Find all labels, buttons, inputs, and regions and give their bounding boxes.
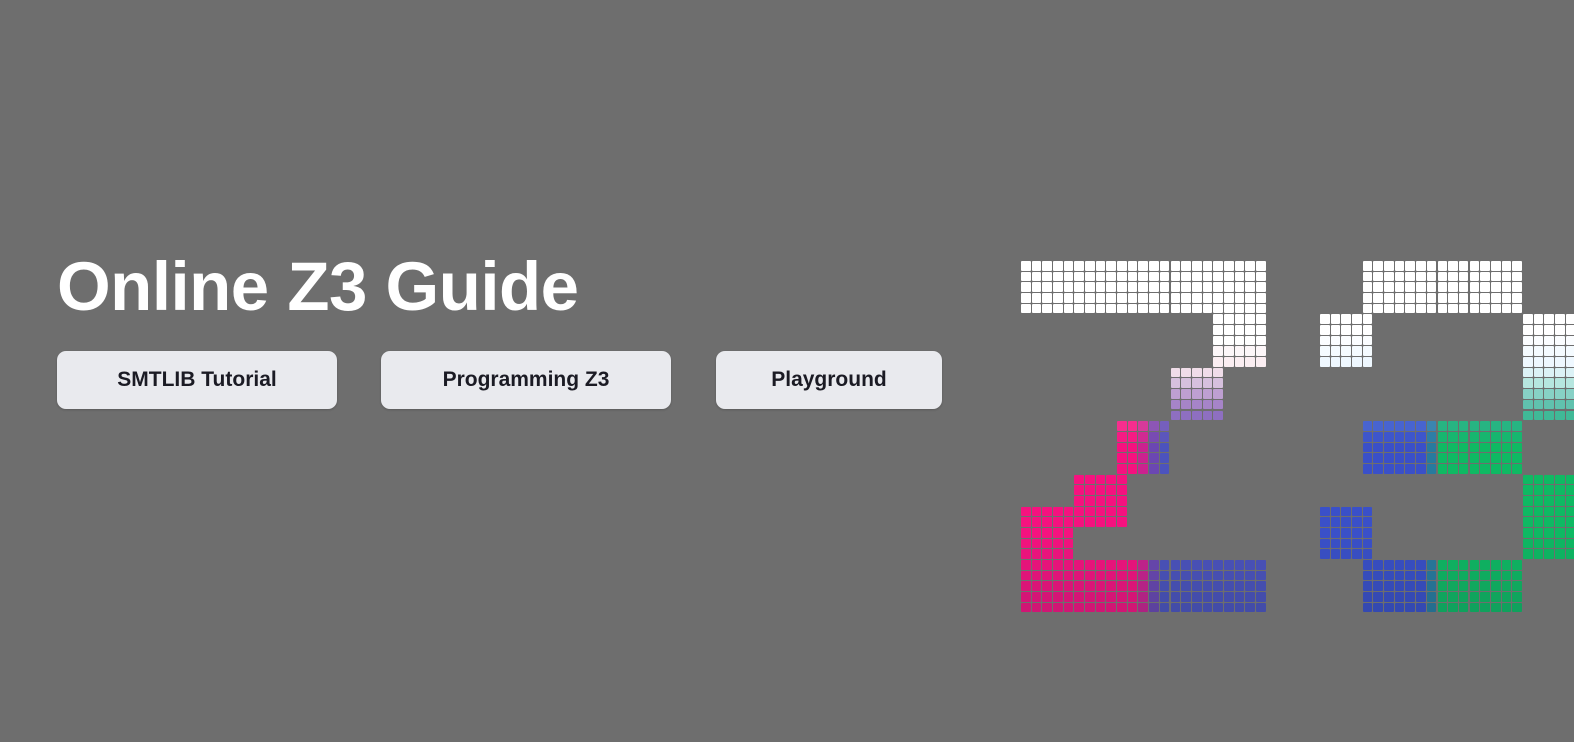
programming-z3-button[interactable]: Programming Z3 (381, 351, 671, 409)
logo-pixel (1256, 571, 1266, 581)
logo-pixel (1438, 581, 1448, 591)
logo-pixel (1534, 378, 1544, 388)
logo-pixel (1438, 421, 1448, 431)
logo-pixel (1203, 592, 1213, 602)
logo-pixel (1032, 581, 1042, 591)
logo-pixel (1416, 304, 1426, 314)
logo-pixel (1171, 389, 1181, 399)
logo-pixel (1555, 549, 1565, 559)
logo-pixel (1523, 517, 1533, 527)
logo-pixel (1203, 400, 1213, 410)
logo-pixel (1331, 346, 1341, 356)
logo-pixel (1032, 603, 1042, 613)
logo-pixel (1149, 571, 1159, 581)
logo-pixel (1331, 507, 1341, 517)
logo-pixel (1160, 432, 1170, 442)
logo-pixel (1053, 592, 1063, 602)
logo-pixel (1181, 261, 1191, 271)
logo-pixel (1373, 421, 1383, 431)
logo-pixel (1405, 304, 1415, 314)
logo-pixel (1053, 581, 1063, 591)
logo-pixel (1448, 304, 1458, 314)
logo-pixel (1213, 389, 1223, 399)
logo-pixel (1405, 293, 1415, 303)
logo-pixel (1523, 485, 1533, 495)
logo-pixel (1074, 496, 1084, 506)
logo-pixel (1320, 325, 1330, 335)
logo-pixel (1021, 261, 1031, 271)
logo-pixel (1491, 261, 1501, 271)
logo-pixel (1427, 603, 1437, 613)
logo-pixel (1502, 592, 1512, 602)
logo-pixel (1224, 336, 1234, 346)
logo-pixel (1171, 282, 1181, 292)
logo-pixel (1074, 592, 1084, 602)
playground-button[interactable]: Playground (716, 351, 942, 409)
logo-pixel (1512, 282, 1522, 292)
logo-pixel (1534, 325, 1544, 335)
logo-pixel (1427, 581, 1437, 591)
logo-pixel (1064, 603, 1074, 613)
logo-pixel (1384, 560, 1394, 570)
logo-pixel (1470, 464, 1480, 474)
logo-pixel (1245, 581, 1255, 591)
logo-pixel (1491, 293, 1501, 303)
logo-pixel (1128, 261, 1138, 271)
logo-pixel (1245, 293, 1255, 303)
logo-pixel (1566, 389, 1574, 399)
logo-pixel (1502, 421, 1512, 431)
logo-pixel (1032, 304, 1042, 314)
logo-pixel (1245, 325, 1255, 335)
logo-pixel (1555, 346, 1565, 356)
logo-pixel (1106, 496, 1116, 506)
logo-pixel (1096, 261, 1106, 271)
logo-pixel (1523, 400, 1533, 410)
logo-pixel (1523, 325, 1533, 335)
logo-pixel (1042, 507, 1052, 517)
logo-pixel (1245, 314, 1255, 324)
logo-pixel (1085, 261, 1095, 271)
logo-pixel (1138, 581, 1148, 591)
logo-pixel (1502, 603, 1512, 613)
logo-pixel (1224, 325, 1234, 335)
logo-pixel (1320, 517, 1330, 527)
logo-pixel (1138, 282, 1148, 292)
logo-pixel (1117, 475, 1127, 485)
logo-pixel (1555, 400, 1565, 410)
logo-pixel (1149, 421, 1159, 431)
logo-pixel (1149, 261, 1159, 271)
logo-pixel (1363, 346, 1373, 356)
logo-pixel (1363, 336, 1373, 346)
logo-pixel (1523, 336, 1533, 346)
logo-pixel (1032, 539, 1042, 549)
logo-pixel (1138, 443, 1148, 453)
logo-pixel (1096, 282, 1106, 292)
logo-pixel (1053, 507, 1063, 517)
logo-pixel (1085, 560, 1095, 570)
logo-pixel (1032, 571, 1042, 581)
logo-pixel (1117, 560, 1127, 570)
logo-pixel (1373, 592, 1383, 602)
logo-pixel (1021, 507, 1031, 517)
logo-pixel (1373, 571, 1383, 581)
logo-pixel (1363, 592, 1373, 602)
logo-pixel (1085, 282, 1095, 292)
logo-pixel (1042, 282, 1052, 292)
logo-pixel (1470, 432, 1480, 442)
logo-pixel (1085, 517, 1095, 527)
logo-pixel (1491, 272, 1501, 282)
logo-pixel (1502, 272, 1512, 282)
logo-pixel (1074, 581, 1084, 591)
logo-pixel (1438, 261, 1448, 271)
logo-pixel (1128, 282, 1138, 292)
logo-pixel (1256, 560, 1266, 570)
logo-pixel (1149, 293, 1159, 303)
logo-pixel (1523, 549, 1533, 559)
logo-pixel (1405, 560, 1415, 570)
logo-pixel (1042, 261, 1052, 271)
logo-pixel (1256, 293, 1266, 303)
logo-pixel (1491, 282, 1501, 292)
logo-pixel (1160, 464, 1170, 474)
logo-pixel (1042, 528, 1052, 538)
logo-pixel (1213, 304, 1223, 314)
logo-pixel (1523, 539, 1533, 549)
logo-pixel (1181, 603, 1191, 613)
logo-pixel (1438, 443, 1448, 453)
logo-pixel (1160, 304, 1170, 314)
logo-pixel (1512, 464, 1522, 474)
logo-pixel (1160, 272, 1170, 282)
logo-pixel (1491, 304, 1501, 314)
logo-pixel (1245, 304, 1255, 314)
logo-pixel (1181, 282, 1191, 292)
logo-pixel (1138, 603, 1148, 613)
logo-pixel (1042, 603, 1052, 613)
logo-pixel (1331, 539, 1341, 549)
logo-pixel (1149, 282, 1159, 292)
logo-pixel (1416, 421, 1426, 431)
logo-pixel (1224, 592, 1234, 602)
logo-pixel (1566, 378, 1574, 388)
logo-pixel (1512, 560, 1522, 570)
logo-pixel (1438, 282, 1448, 292)
logo-pixel (1117, 443, 1127, 453)
logo-pixel (1213, 368, 1223, 378)
logo-pixel (1149, 453, 1159, 463)
logo-pixel (1427, 272, 1437, 282)
logo-pixel (1096, 592, 1106, 602)
logo-pixel (1042, 549, 1052, 559)
logo-pixel (1416, 592, 1426, 602)
logo-pixel (1032, 293, 1042, 303)
logo-pixel (1384, 272, 1394, 282)
logo-pixel (1427, 453, 1437, 463)
logo-pixel (1128, 464, 1138, 474)
logo-pixel (1096, 485, 1106, 495)
logo-pixel (1491, 443, 1501, 453)
logo-pixel (1491, 592, 1501, 602)
logo-pixel (1160, 453, 1170, 463)
logo-pixel (1245, 346, 1255, 356)
logo-pixel (1341, 325, 1351, 335)
logo-pixel (1149, 464, 1159, 474)
logo-pixel (1363, 261, 1373, 271)
logo-pixel (1160, 592, 1170, 602)
logo-pixel (1427, 592, 1437, 602)
logo-pixel (1384, 453, 1394, 463)
logo-pixel (1555, 496, 1565, 506)
logo-pixel (1171, 272, 1181, 282)
logo-pixel (1213, 400, 1223, 410)
logo-pixel (1021, 282, 1031, 292)
logo-pixel (1384, 421, 1394, 431)
hero-section: Online Z3 Guide SMTLIB Tutorial Programm… (0, 0, 1574, 742)
logo-pixel (1352, 517, 1362, 527)
logo-pixel (1405, 464, 1415, 474)
logo-pixel (1106, 603, 1116, 613)
logo-pixel (1128, 560, 1138, 570)
logo-pixel (1352, 357, 1362, 367)
logo-pixel (1192, 592, 1202, 602)
logo-pixel (1566, 549, 1574, 559)
hero-button-row: SMTLIB Tutorial Programming Z3 Playgroun… (57, 351, 957, 409)
logo-pixel (1352, 314, 1362, 324)
logo-pixel (1096, 293, 1106, 303)
logo-pixel (1149, 272, 1159, 282)
logo-pixel (1074, 282, 1084, 292)
logo-pixel (1384, 261, 1394, 271)
logo-pixel (1192, 389, 1202, 399)
logo-pixel (1470, 560, 1480, 570)
logo-pixel (1373, 603, 1383, 613)
logo-pixel (1470, 581, 1480, 591)
logo-pixel (1555, 517, 1565, 527)
logo-pixel (1534, 357, 1544, 367)
logo-pixel (1074, 261, 1084, 271)
logo-pixel (1523, 314, 1533, 324)
logo-pixel (1096, 272, 1106, 282)
logo-pixel (1064, 539, 1074, 549)
logo-pixel (1171, 581, 1181, 591)
logo-pixel (1512, 432, 1522, 442)
logo-pixel (1405, 432, 1415, 442)
smtlib-tutorial-button[interactable]: SMTLIB Tutorial (57, 351, 337, 409)
logo-pixel (1235, 336, 1245, 346)
logo-pixel (1363, 603, 1373, 613)
logo-pixel (1470, 603, 1480, 613)
logo-pixel (1373, 293, 1383, 303)
logo-pixel (1245, 592, 1255, 602)
logo-pixel (1213, 603, 1223, 613)
logo-pixel (1470, 453, 1480, 463)
logo-pixel (1245, 560, 1255, 570)
logo-pixel (1160, 571, 1170, 581)
logo-pixel (1363, 571, 1373, 581)
logo-pixel (1149, 581, 1159, 591)
logo-pixel (1352, 528, 1362, 538)
logo-pixel (1502, 443, 1512, 453)
logo-pixel (1117, 453, 1127, 463)
logo-pixel (1021, 571, 1031, 581)
logo-pixel (1544, 368, 1554, 378)
logo-pixel (1235, 282, 1245, 292)
logo-pixel (1117, 571, 1127, 581)
logo-pixel (1064, 528, 1074, 538)
logo-pixel (1149, 592, 1159, 602)
logo-pixel (1149, 304, 1159, 314)
logo-pixel (1448, 571, 1458, 581)
logo-pixel (1032, 261, 1042, 271)
logo-pixel (1235, 581, 1245, 591)
logo-pixel (1384, 293, 1394, 303)
logo-pixel (1085, 603, 1095, 613)
logo-pixel (1032, 282, 1042, 292)
logo-pixel (1192, 304, 1202, 314)
logo-pixel (1203, 293, 1213, 303)
logo-pixel (1053, 282, 1063, 292)
logo-pixel (1106, 272, 1116, 282)
logo-pixel (1363, 314, 1373, 324)
logo-pixel (1053, 549, 1063, 559)
logo-pixel (1480, 581, 1490, 591)
logo-pixel (1438, 272, 1448, 282)
logo-pixel (1523, 389, 1533, 399)
logo-pixel (1502, 261, 1512, 271)
logo-pixel (1213, 346, 1223, 356)
logo-pixel (1555, 528, 1565, 538)
logo-pixel (1235, 314, 1245, 324)
logo-pixel (1064, 304, 1074, 314)
logo-pixel (1213, 571, 1223, 581)
logo-pixel (1064, 517, 1074, 527)
logo-pixel (1427, 261, 1437, 271)
logo-pixel (1416, 464, 1426, 474)
logo-pixel (1544, 539, 1554, 549)
logo-pixel (1395, 432, 1405, 442)
logo-pixel (1256, 336, 1266, 346)
logo-pixel (1555, 389, 1565, 399)
logo-pixel (1085, 485, 1095, 495)
logo-pixel (1117, 581, 1127, 591)
logo-pixel (1213, 357, 1223, 367)
logo-pixel (1117, 261, 1127, 271)
logo-pixel (1566, 539, 1574, 549)
logo-pixel (1181, 389, 1191, 399)
logo-pixel (1032, 517, 1042, 527)
logo-pixel (1534, 528, 1544, 538)
logo-pixel (1416, 571, 1426, 581)
logo-pixel (1245, 603, 1255, 613)
logo-pixel (1021, 560, 1031, 570)
logo-pixel (1384, 464, 1394, 474)
logo-pixel (1363, 293, 1373, 303)
logo-pixel (1074, 507, 1084, 517)
logo-pixel (1534, 517, 1544, 527)
logo-pixel (1534, 389, 1544, 399)
logo-pixel (1171, 560, 1181, 570)
logo-pixel (1405, 272, 1415, 282)
logo-pixel (1106, 282, 1116, 292)
logo-pixel (1405, 571, 1415, 581)
logo-pixel (1160, 603, 1170, 613)
logo-pixel (1416, 261, 1426, 271)
logo-pixel (1363, 539, 1373, 549)
logo-pixel (1320, 549, 1330, 559)
logo-pixel (1053, 603, 1063, 613)
logo-pixel (1566, 496, 1574, 506)
logo-pixel (1448, 592, 1458, 602)
logo-pixel (1213, 325, 1223, 335)
logo-pixel (1106, 261, 1116, 271)
logo-pixel (1341, 549, 1351, 559)
logo-pixel (1117, 603, 1127, 613)
logo-pixel (1053, 293, 1063, 303)
logo-pixel (1096, 581, 1106, 591)
logo-pixel (1470, 282, 1480, 292)
logo-pixel (1384, 581, 1394, 591)
logo-pixel (1106, 560, 1116, 570)
logo-pixel (1363, 517, 1373, 527)
logo-pixel (1053, 304, 1063, 314)
logo-pixel (1160, 282, 1170, 292)
logo-pixel (1395, 443, 1405, 453)
logo-pixel (1106, 581, 1116, 591)
logo-pixel (1384, 432, 1394, 442)
logo-pixel (1480, 592, 1490, 602)
logo-pixel (1405, 592, 1415, 602)
logo-pixel (1320, 336, 1330, 346)
logo-pixel (1416, 293, 1426, 303)
logo-pixel (1534, 507, 1544, 517)
logo-pixel (1555, 411, 1565, 421)
logo-pixel (1480, 432, 1490, 442)
logo-pixel (1427, 443, 1437, 453)
logo-pixel (1512, 293, 1522, 303)
logo-pixel (1138, 592, 1148, 602)
logo-pixel (1235, 325, 1245, 335)
logo-pixel (1480, 282, 1490, 292)
logo-pixel (1117, 282, 1127, 292)
logo-pixel (1502, 304, 1512, 314)
logo-pixel (1021, 592, 1031, 602)
logo-pixel (1021, 581, 1031, 591)
logo-pixel (1064, 293, 1074, 303)
logo-pixel (1416, 603, 1426, 613)
logo-pixel (1320, 539, 1330, 549)
logo-pixel (1352, 346, 1362, 356)
logo-pixel (1256, 304, 1266, 314)
logo-pixel (1224, 357, 1234, 367)
logo-pixel (1373, 282, 1383, 292)
logo-pixel (1224, 272, 1234, 282)
logo-pixel (1491, 432, 1501, 442)
logo-pixel (1459, 432, 1469, 442)
logo-pixel (1416, 282, 1426, 292)
logo-pixel (1491, 560, 1501, 570)
logo-pixel (1341, 336, 1351, 346)
logo-pixel (1192, 293, 1202, 303)
logo-pixel (1331, 528, 1341, 538)
logo-pixel (1064, 549, 1074, 559)
logo-pixel (1470, 272, 1480, 282)
logo-pixel (1523, 528, 1533, 538)
logo-pixel (1203, 261, 1213, 271)
logo-pixel (1544, 389, 1554, 399)
